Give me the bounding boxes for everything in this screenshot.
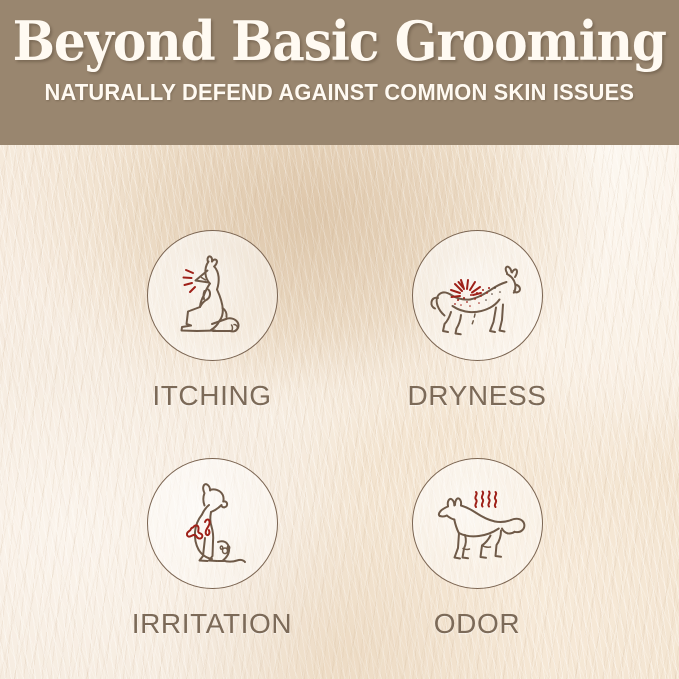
- feature-label: ODOR: [434, 608, 520, 640]
- feature-itching: ITCHING: [92, 230, 332, 412]
- dog-sitting-irritated-patch-icon: [147, 458, 278, 589]
- feature-odor: ODOR: [357, 458, 597, 640]
- feature-dryness: DRYNESS: [357, 230, 597, 412]
- grooming-infographic: Beyond Basic Grooming NATURALLY DEFEND A…: [0, 0, 679, 679]
- page-subtitle: NATURALLY DEFEND AGAINST COMMON SKIN ISS…: [45, 69, 635, 106]
- page-title: Beyond Basic Grooming: [13, 0, 666, 69]
- header-band: Beyond Basic Grooming NATURALLY DEFEND A…: [0, 0, 679, 145]
- feature-irritation: IRRITATION: [92, 458, 332, 640]
- feature-label: DRYNESS: [407, 380, 546, 412]
- dog-scratching-neck-icon: [147, 230, 278, 361]
- dog-standing-flaky-skin-icon: [412, 230, 543, 361]
- dog-walking-odor-icon: [412, 458, 543, 589]
- feature-grid: ITCHING: [0, 145, 679, 679]
- feature-label: IRRITATION: [132, 608, 293, 640]
- feature-label: ITCHING: [152, 380, 271, 412]
